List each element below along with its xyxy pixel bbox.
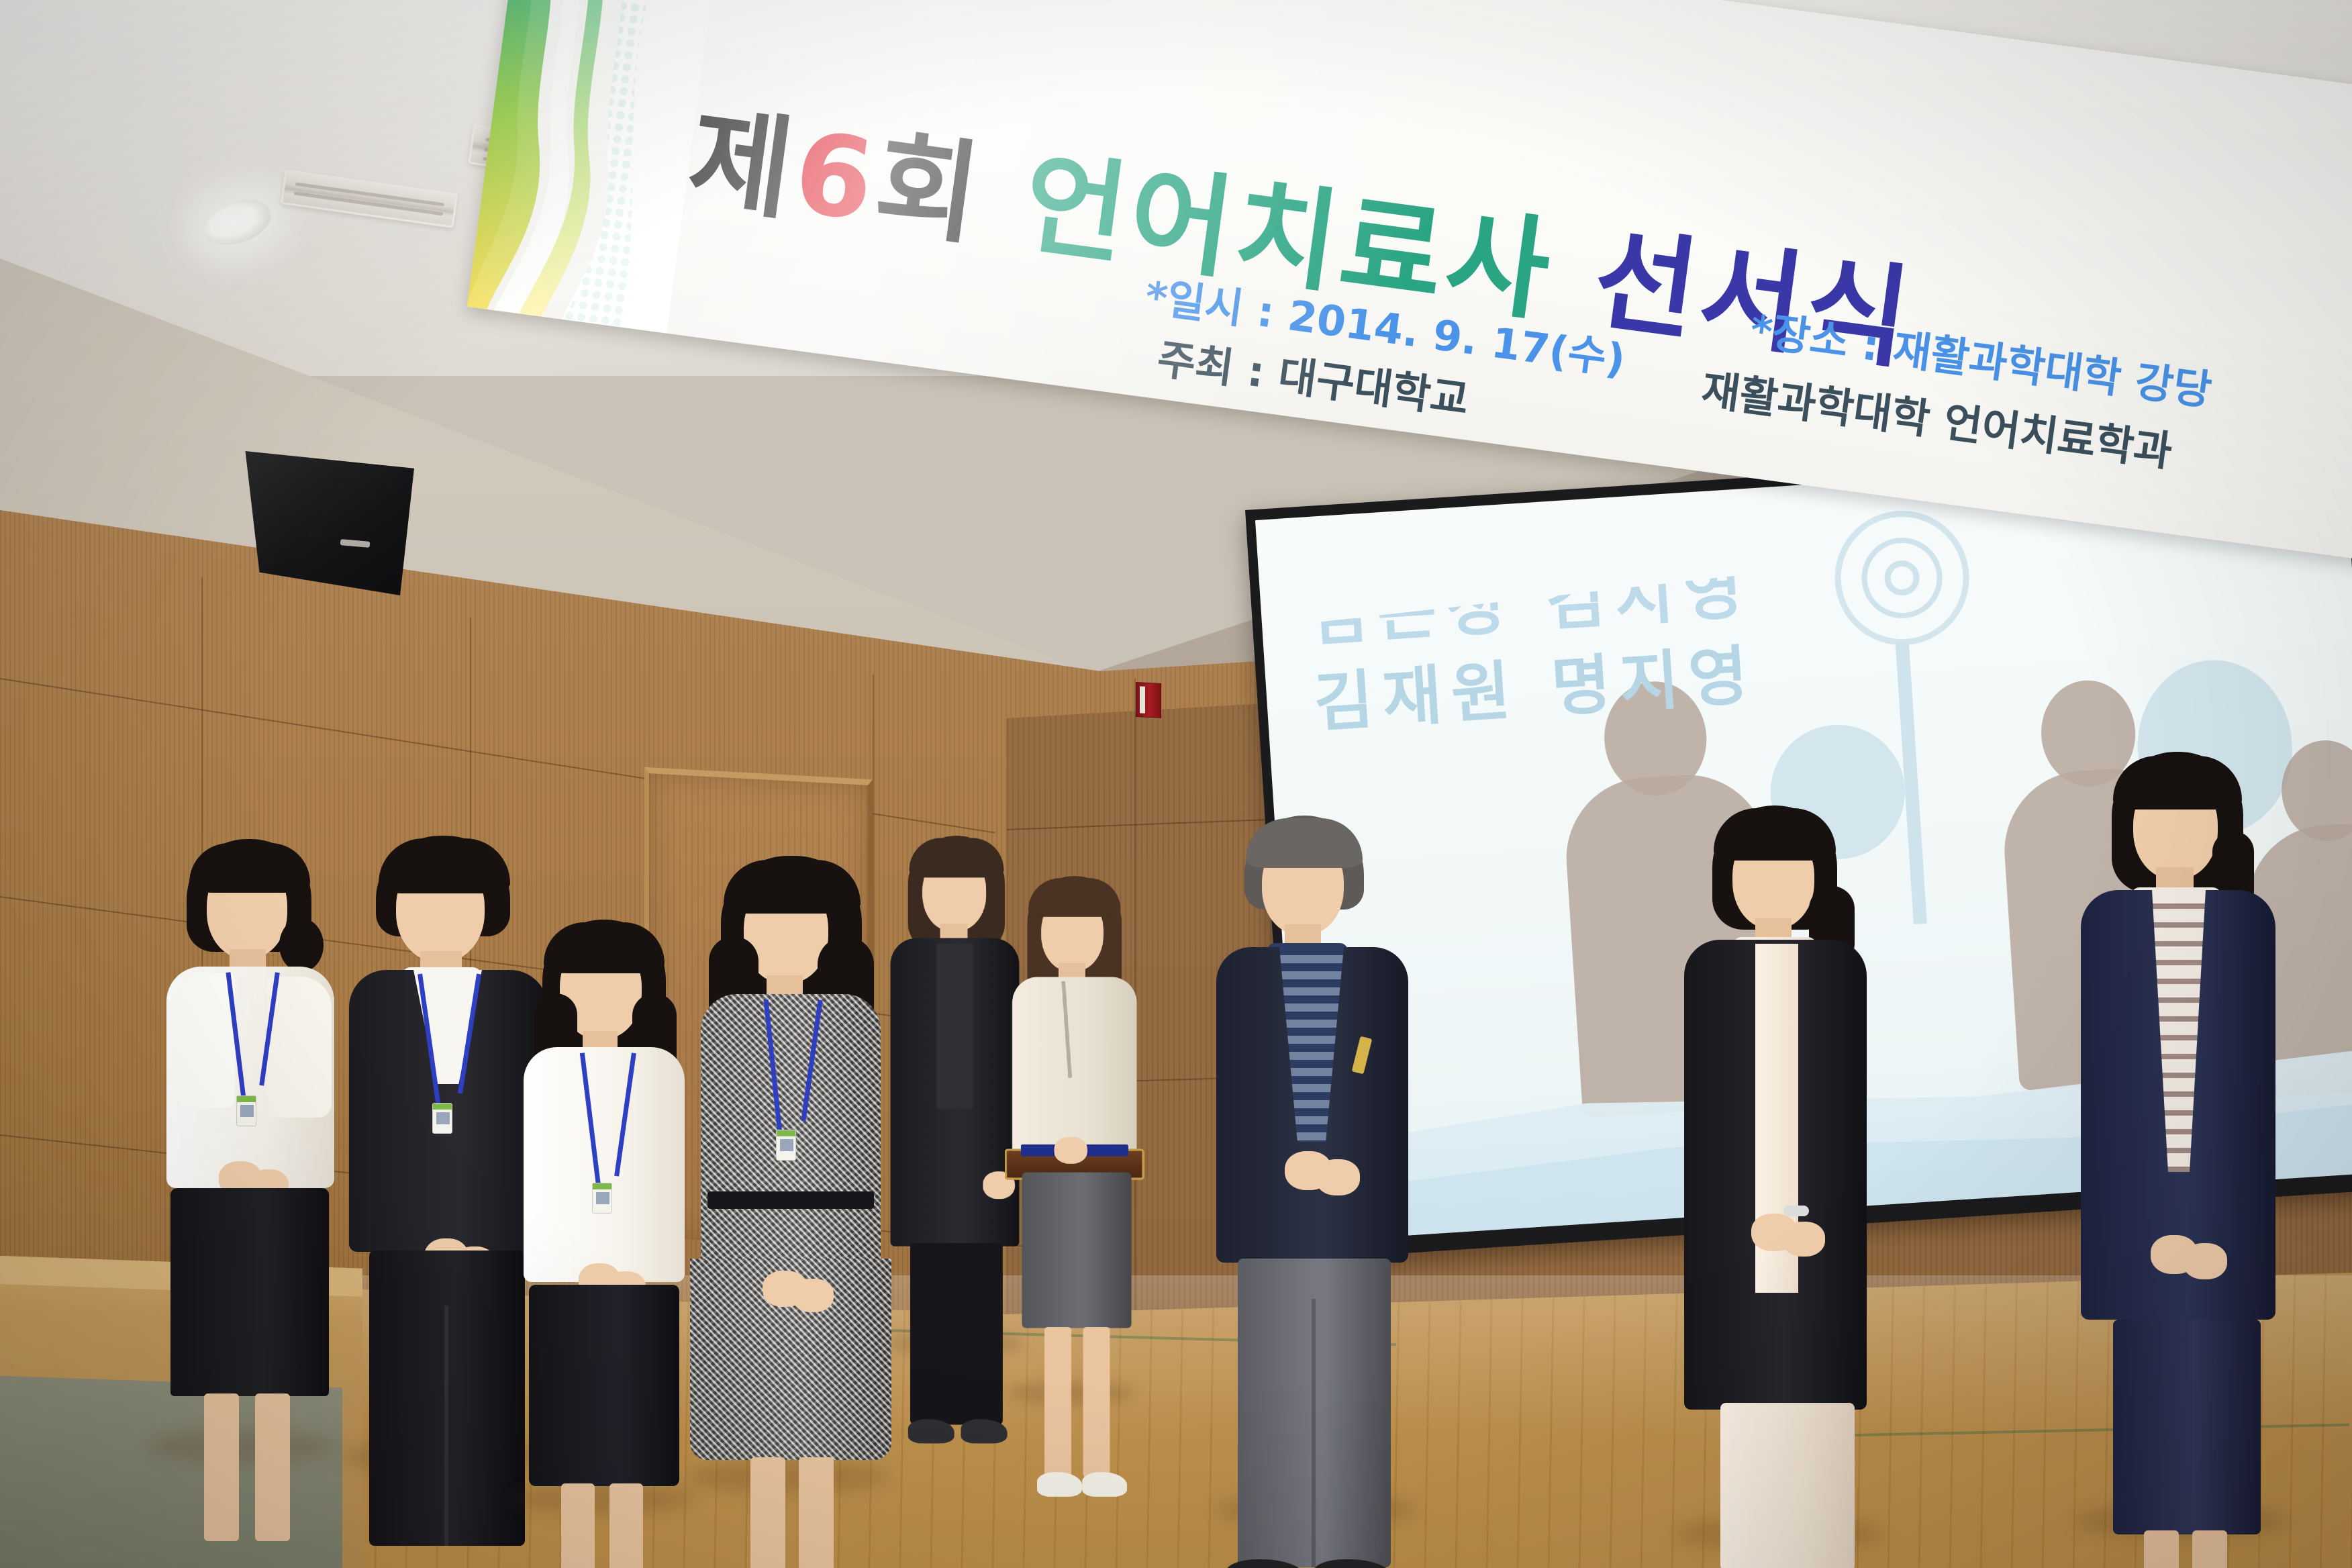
fire-alarm-icon bbox=[1136, 682, 1161, 718]
black-skirt bbox=[170, 1188, 329, 1396]
cream-skirt bbox=[1720, 1403, 1855, 1568]
banner-title-part-1: 제 bbox=[681, 94, 804, 236]
event-banner: 제6회 언어치료사 선서식 *일시 : 2014. 9. 17(수) *장소 :… bbox=[467, 0, 2352, 569]
id-badge bbox=[236, 1095, 256, 1126]
id-badge bbox=[432, 1103, 452, 1134]
white-blouse bbox=[524, 1047, 685, 1282]
id-badge bbox=[592, 1183, 612, 1214]
photo-scene: 김은정 김지영 김재원 명지영 bbox=[0, 0, 2352, 1568]
cream-blouse bbox=[1012, 977, 1137, 1154]
navy-skirt bbox=[2113, 1320, 2261, 1534]
grey-skirt bbox=[1022, 1173, 1131, 1328]
id-badge bbox=[776, 1130, 796, 1161]
floor-carpet bbox=[0, 1375, 342, 1568]
black-skirt bbox=[529, 1285, 679, 1486]
banner-title-part-3: 회 bbox=[868, 119, 1033, 267]
